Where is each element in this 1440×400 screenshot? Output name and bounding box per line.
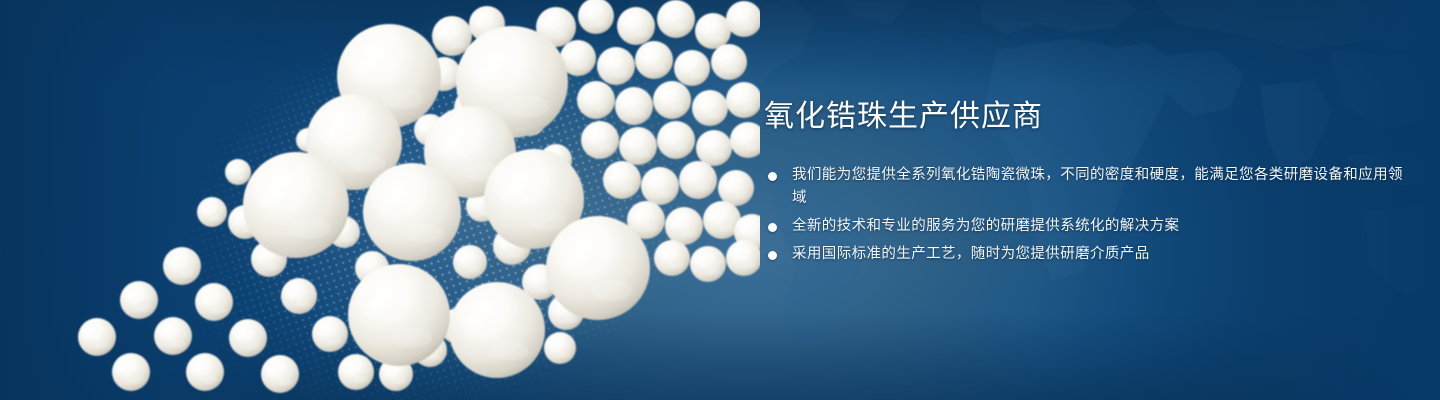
- list-item: 采用国际标准的生产工艺，随时为您提供研磨介质产品: [764, 243, 1404, 266]
- feature-list: 我们能为您提供全系列氧化锆陶瓷微珠，不同的密度和硬度，能满足您各类研磨设备和应用…: [764, 164, 1404, 266]
- bullet-dot-icon: [768, 172, 777, 181]
- list-item-label: 我们能为您提供全系列氧化锆陶瓷微珠，不同的密度和硬度，能满足您各类研磨设备和应用…: [792, 164, 1404, 210]
- list-item-label: 采用国际标准的生产工艺，随时为您提供研磨介质产品: [792, 243, 1404, 266]
- zirconia-beads-image: [0, 0, 760, 400]
- list-item: 全新的技术和专业的服务为您的研磨提供系统化的解决方案: [764, 215, 1404, 238]
- bullet-dot-icon: [768, 251, 777, 260]
- list-item: 我们能为您提供全系列氧化锆陶瓷微珠，不同的密度和硬度，能满足您各类研磨设备和应用…: [764, 164, 1404, 210]
- hero-banner: 氧化锆珠生产供应商 我们能为您提供全系列氧化锆陶瓷微珠，不同的密度和硬度，能满足…: [0, 0, 1440, 400]
- bullet-dot-icon: [768, 223, 777, 232]
- page-title: 氧化锆珠生产供应商: [764, 100, 1404, 134]
- list-item-label: 全新的技术和专业的服务为您的研磨提供系统化的解决方案: [792, 215, 1404, 238]
- banner-content: 氧化锆珠生产供应商 我们能为您提供全系列氧化锆陶瓷微珠，不同的密度和硬度，能满足…: [764, 100, 1404, 266]
